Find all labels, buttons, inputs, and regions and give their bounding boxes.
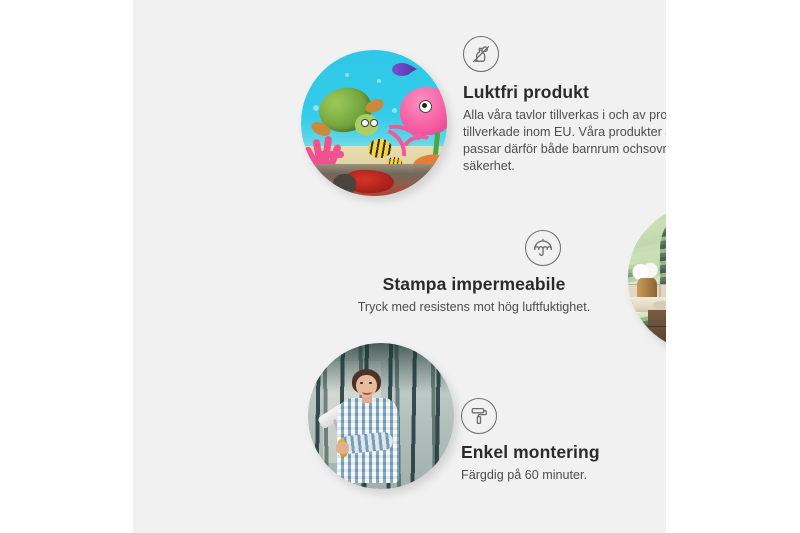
painter-forest-circle-image	[308, 343, 454, 489]
feature-title: Luktfri produkt	[463, 82, 666, 103]
no-fragrance-icon	[463, 36, 499, 72]
bubble-icon	[392, 108, 397, 113]
yellow-striped-fish-icon	[368, 139, 391, 158]
feature-assembly: Enkel montering Färgdig på 60 minuter.	[461, 398, 666, 484]
feature-waterproof: Stampa impermeabile Tryck med resistens …	[329, 230, 619, 316]
promo-banner: Luktfri produkt Alla våra tavlor tillver…	[0, 0, 800, 533]
octopus-eye	[419, 100, 432, 113]
content-panel: Luktfri produkt Alla våra tavlor tillver…	[133, 0, 666, 533]
wooden-vanity-cabinet	[648, 310, 666, 351]
feature-description: Alla våra tavlor tillverkas i och av pro…	[463, 107, 666, 175]
feature-odourless: Luktfri produkt Alla våra tavlor tillver…	[463, 36, 666, 175]
feature-title: Enkel montering	[461, 442, 666, 463]
vanity-drawer-seam	[648, 326, 666, 327]
turtle-eye	[361, 119, 369, 127]
feature-title: Stampa impermeabile	[329, 274, 619, 295]
woman-hand	[336, 442, 349, 454]
soap-dish	[653, 301, 666, 308]
dark-foreground-object	[333, 174, 356, 194]
feature-description: Tryck med resistens mot hög luftfuktighe…	[329, 299, 619, 316]
forest-canopy	[308, 343, 454, 393]
umbrella-icon	[525, 230, 561, 266]
turtle-eye	[370, 119, 378, 127]
feature-description: Färgdig på 60 minuter.	[461, 467, 666, 484]
underwater-cartoon-circle-image	[301, 50, 447, 196]
bathroom-interior-circle-image	[628, 205, 666, 351]
paint-roller-icon	[461, 398, 497, 434]
